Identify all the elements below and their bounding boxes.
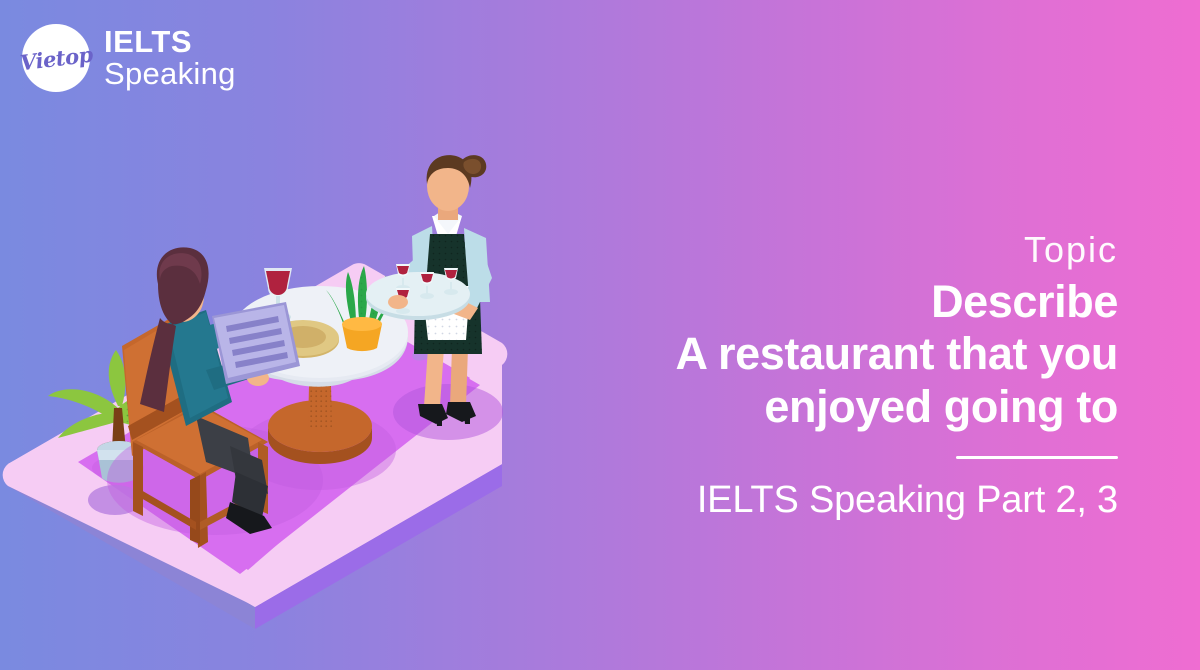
brand-logo-group: Vietop IELTS Speaking <box>22 24 236 92</box>
isometric-restaurant-illustration <box>0 150 620 670</box>
topic-title-line-1: Describe <box>558 276 1118 329</box>
topic-title-line-3: enjoyed going to <box>558 381 1118 434</box>
topic-kicker-label: Topic <box>558 230 1118 270</box>
topic-divider-rule <box>956 456 1118 459</box>
page-title: Describe A restaurant that you enjoyed g… <box>558 276 1118 434</box>
hand <box>388 295 408 309</box>
topic-panel: Topic Describe A restaurant that you enj… <box>558 230 1118 522</box>
brand-ielts-label: IELTS <box>104 26 236 58</box>
brand-speaking-label: Speaking <box>104 58 236 90</box>
brand-text-block: IELTS Speaking <box>104 26 236 89</box>
vietop-circle-logo-icon: Vietop <box>22 24 90 92</box>
tray-of-wine-glasses <box>366 264 470 320</box>
topic-subtitle-label: IELTS Speaking Part 2, 3 <box>558 479 1118 522</box>
topic-title-line-2: A restaurant that you <box>558 328 1118 381</box>
vietop-wordmark: Vietop <box>19 43 94 73</box>
